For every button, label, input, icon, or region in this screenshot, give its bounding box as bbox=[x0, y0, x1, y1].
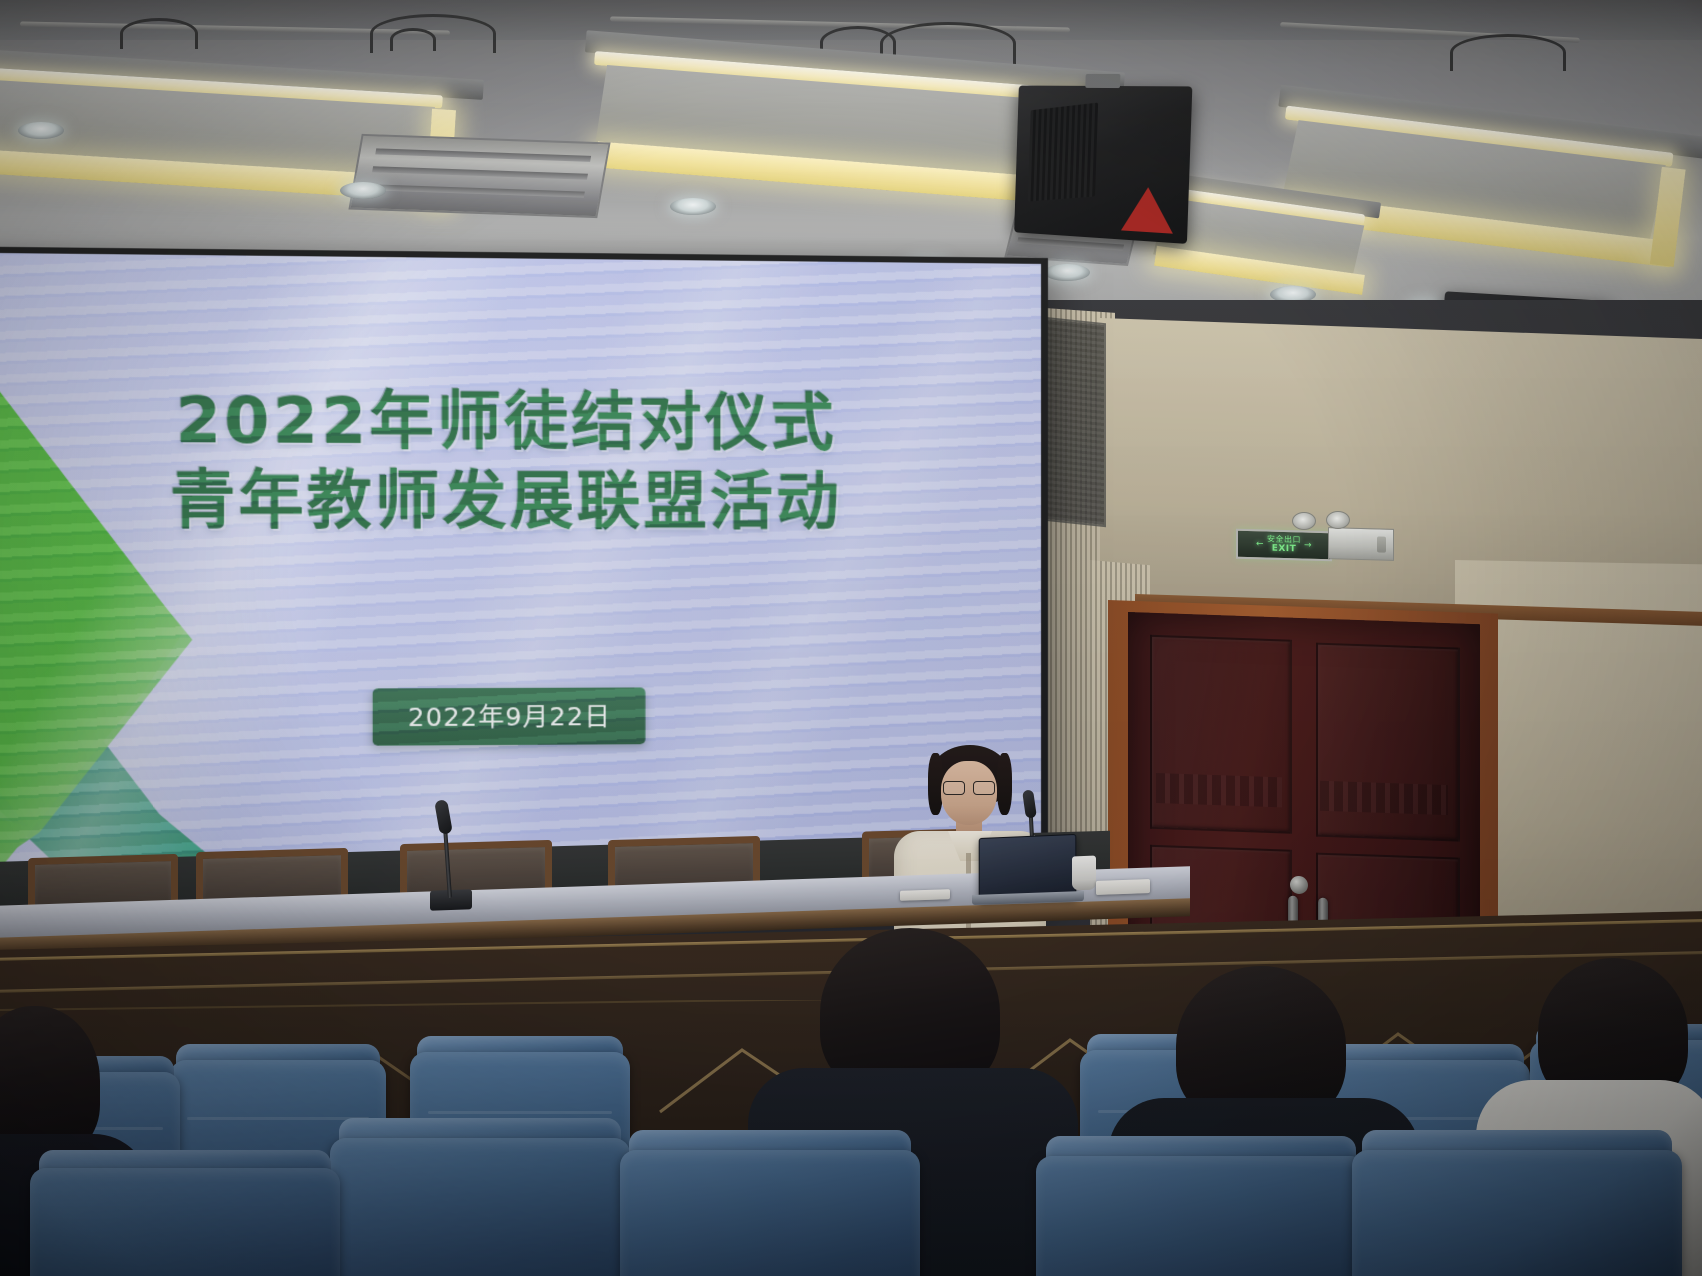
audience-seat[interactable] bbox=[1352, 1150, 1682, 1276]
document-stack bbox=[1096, 879, 1150, 895]
ceiling-speaker bbox=[1014, 86, 1192, 244]
ceiling-air-vent bbox=[348, 134, 610, 218]
exit-sign: ← 安全出口 EXIT → bbox=[1236, 529, 1332, 562]
document-stack bbox=[900, 889, 950, 901]
recessed-downlight bbox=[18, 122, 64, 139]
exit-arrow-left-icon: ← bbox=[1256, 540, 1264, 549]
exit-arrow-right-icon: → bbox=[1304, 541, 1312, 550]
exit-sign-english: EXIT bbox=[1267, 545, 1301, 555]
emergency-lamp-icon bbox=[1326, 511, 1350, 529]
ceiling-cable bbox=[1450, 34, 1566, 71]
audience-seat[interactable] bbox=[1036, 1156, 1366, 1276]
auditorium-photo: ← 安全出口 EXIT → bbox=[0, 0, 1702, 1276]
presenter-hair-side bbox=[997, 753, 1012, 815]
audience-seat[interactable] bbox=[330, 1138, 630, 1276]
screen-bezel bbox=[0, 246, 1048, 909]
emergency-light-unit bbox=[1328, 527, 1394, 561]
emergency-lamp-icon bbox=[1292, 512, 1316, 530]
audience-seat[interactable] bbox=[620, 1150, 920, 1276]
wall-speaker bbox=[1044, 317, 1106, 528]
ceiling-cable bbox=[120, 18, 198, 49]
ceiling-cable bbox=[370, 14, 496, 53]
glasses-icon bbox=[943, 781, 995, 793]
recessed-downlight bbox=[340, 182, 386, 199]
led-display-wall: 2022年师徒结对仪式 青年教师发展联盟活动 2022年9月22日 bbox=[0, 246, 1048, 909]
recessed-downlight bbox=[1044, 264, 1090, 281]
paper-cup bbox=[1072, 856, 1096, 891]
recessed-downlight bbox=[670, 198, 716, 215]
audience-seat[interactable] bbox=[30, 1168, 340, 1276]
